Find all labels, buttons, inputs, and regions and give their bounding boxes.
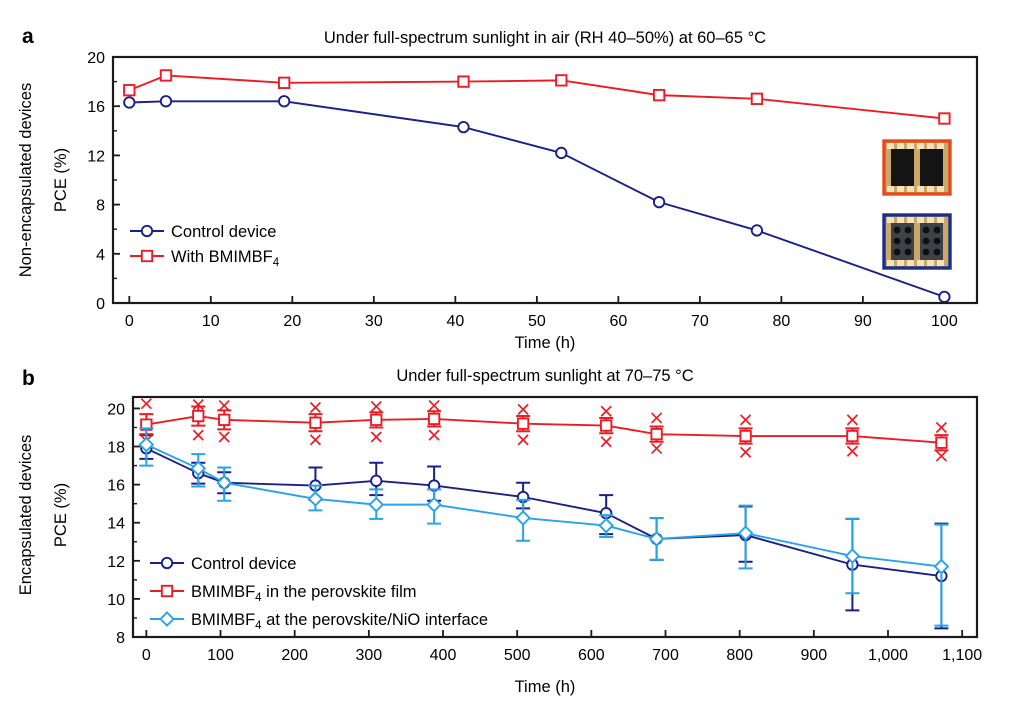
legend-with-bmimbf4[interactable]: With BMIMBF4 [130, 248, 280, 269]
contact-pad [907, 143, 914, 149]
y-tick-label: 8 [96, 198, 105, 215]
contact-pad [897, 186, 904, 192]
y-tick-label: 0 [96, 296, 105, 313]
x-tick-label: 300 [355, 647, 382, 664]
data-point [939, 292, 949, 302]
x-tick-label: 60 [609, 313, 627, 330]
panel-b-letter: b [22, 367, 35, 390]
legend-label-tail: in the perovskite film [262, 583, 417, 601]
contact-pad [887, 186, 894, 192]
series-0 [124, 96, 949, 302]
contact-pad [927, 217, 934, 223]
legend-marker [161, 613, 174, 626]
degradation-spot [905, 238, 912, 245]
x-tick-label: 20 [283, 313, 301, 330]
contact-pad [917, 143, 924, 149]
data-point [458, 76, 468, 86]
contact-pad [907, 217, 914, 223]
legend-marker [162, 586, 172, 596]
x-tick-label: 400 [430, 647, 457, 664]
data-point [556, 75, 566, 85]
legend-bmimbf4-in-film[interactable]: BMIMBF4 in the perovskite film [150, 583, 417, 604]
contact-pad [887, 217, 894, 223]
contact-pad [897, 260, 904, 266]
contact-pad [907, 260, 914, 266]
contact-pad [937, 217, 944, 223]
x-tick-label: 0 [142, 647, 151, 664]
data-point [310, 418, 320, 428]
data-point [650, 532, 663, 545]
x-tick-label: 10 [202, 313, 220, 330]
figure-container: a Under full-spectrum sunlight in air (R… [0, 0, 1024, 703]
legend-bmimbf4-at-interface[interactable]: BMIMBF4 at the perovskite/NiO interface [150, 611, 488, 632]
x-tick-label: 80 [772, 313, 790, 330]
contact-pad [907, 186, 914, 192]
degradation-spot [934, 238, 941, 245]
panel-b-y-ticks: 8101214161820 [107, 401, 140, 647]
legend-label-tail: at the perovskite/NiO interface [262, 611, 489, 629]
contact-pad [937, 186, 944, 192]
extreme-max-cross-icon [652, 413, 662, 423]
data-point [936, 438, 946, 448]
extreme-max-cross-icon [310, 402, 320, 412]
data-point [218, 476, 231, 489]
data-point [847, 431, 857, 441]
data-point [600, 519, 613, 532]
series-1 [124, 70, 949, 123]
data-point [458, 122, 468, 132]
data-point [556, 148, 566, 158]
extreme-max-cross-icon [936, 422, 946, 432]
legend-label: With BMIMBF4 [171, 248, 280, 269]
degradation-spot [894, 238, 901, 245]
y-tick-label: 8 [116, 630, 125, 647]
extreme-max-cross-icon [518, 404, 528, 414]
x-tick-label: 40 [446, 313, 464, 330]
y-tick-label: 16 [87, 99, 105, 116]
data-point [279, 96, 289, 106]
panel-b-xlabel: Time (h) [515, 678, 576, 696]
data-point [517, 511, 530, 524]
x-tick-label: 100 [931, 313, 958, 330]
panel-a-insets [884, 141, 950, 268]
panel-a-title: Under full-spectrum sunlight in air (RH … [324, 29, 766, 47]
data-point [124, 97, 134, 107]
degradation-spot [934, 227, 941, 234]
extreme-max-cross-icon [429, 401, 439, 411]
series-1 [139, 399, 948, 461]
y-tick-label: 12 [107, 554, 125, 571]
legend-marker [162, 558, 172, 568]
contact-pad [927, 186, 934, 192]
y-tick-label: 12 [87, 148, 105, 165]
x-tick-label: 600 [578, 647, 605, 664]
panel-a-xlabel: Time (h) [515, 334, 576, 352]
y-tick-label: 20 [87, 50, 105, 67]
panel-b-ylabel-outer: Encapsulated devices [17, 435, 35, 596]
legend-label: BMIMBF4 in the perovskite film [191, 583, 417, 604]
device-photo-control [884, 215, 950, 268]
data-point [518, 418, 528, 428]
x-tick-label: 70 [691, 313, 709, 330]
degradation-spot [923, 227, 930, 234]
contact-pad [927, 260, 934, 266]
contact-pad [917, 260, 924, 266]
data-point [371, 476, 381, 486]
y-tick-label: 16 [107, 478, 125, 495]
extreme-min-cross-icon [429, 430, 439, 440]
y-tick-label: 20 [107, 401, 125, 418]
contact-pad [927, 143, 934, 149]
legend-subscript: 4 [273, 257, 280, 269]
legend-label: Control device [191, 555, 296, 573]
data-point [752, 225, 762, 235]
panel-b-x-ticks: 01002003004005006007008009001,0001,100 [142, 630, 982, 664]
contact-pad [917, 186, 924, 192]
series-line [129, 101, 944, 297]
panel-b: b Under full-spectrum sunlight at 70–75 … [17, 367, 982, 696]
x-tick-label: 30 [365, 313, 383, 330]
perovskite-stripe [920, 149, 943, 186]
series-line [146, 445, 941, 567]
legend-label: BMIMBF4 at the perovskite/NiO interface [191, 611, 488, 632]
data-point [654, 90, 664, 100]
panel-a-letter: a [22, 25, 34, 48]
y-tick-label: 10 [107, 592, 125, 609]
x-tick-label: 200 [281, 647, 308, 664]
x-tick-label: 1,100 [942, 647, 982, 664]
contact-pad [887, 260, 894, 266]
y-tick-label: 14 [107, 516, 125, 533]
legend-marker [142, 226, 152, 236]
y-tick-label: 4 [96, 247, 105, 264]
extreme-min-cross-icon [193, 430, 203, 440]
y-tick-label: 18 [107, 440, 125, 457]
x-tick-label: 90 [854, 313, 872, 330]
x-tick-label: 100 [207, 647, 234, 664]
contact-pad [887, 143, 894, 149]
degradation-spot [923, 238, 930, 245]
extreme-min-cross-icon [652, 443, 662, 453]
data-point [193, 411, 203, 421]
data-point [219, 415, 229, 425]
data-point [429, 414, 439, 424]
data-point [370, 498, 383, 511]
figure-svg: a Under full-spectrum sunlight in air (R… [0, 0, 1024, 703]
data-point [740, 431, 750, 441]
data-point [309, 492, 322, 505]
extreme-max-cross-icon [601, 406, 611, 416]
legend-control-device[interactable]: Control device [130, 223, 276, 241]
extreme-min-cross-icon [371, 432, 381, 442]
data-point [124, 85, 134, 95]
panel-a-frame [113, 57, 977, 303]
legend-marker [142, 251, 152, 261]
panel-a-ylabel-outer: Non-encapsulated devices [17, 83, 35, 277]
data-point [752, 94, 762, 104]
data-point [279, 78, 289, 88]
panel-a-ylabel-inner: PCE (%) [52, 148, 70, 212]
x-tick-label: 500 [504, 647, 531, 664]
x-tick-label: 0 [125, 313, 134, 330]
panel-b-legend: Control deviceBMIMBF4 in the perovskite … [150, 555, 488, 632]
degradation-spot [894, 249, 901, 256]
legend-control-device[interactable]: Control device [150, 555, 296, 573]
degradation-spot [905, 249, 912, 256]
x-tick-label: 800 [726, 647, 753, 664]
contact-pad [937, 143, 944, 149]
extreme-max-cross-icon [219, 401, 229, 411]
panel-a-y-ticks: 048121620 [87, 50, 120, 313]
extreme-max-cross-icon [741, 415, 751, 425]
series-line [129, 75, 944, 118]
x-tick-label: 900 [800, 647, 827, 664]
data-point [371, 415, 381, 425]
x-tick-label: 1,000 [868, 647, 908, 664]
contact-pad [917, 217, 924, 223]
extreme-min-cross-icon [936, 451, 946, 461]
panel-a-plot-area [124, 70, 949, 302]
extreme-max-cross-icon [371, 402, 381, 412]
x-tick-label: 700 [652, 647, 679, 664]
extreme-min-cross-icon [847, 446, 857, 456]
contact-pad [937, 260, 944, 266]
panel-b-ylabel-inner: PCE (%) [52, 483, 70, 547]
data-point [161, 70, 171, 80]
data-point [654, 197, 664, 207]
extreme-max-cross-icon [847, 415, 857, 425]
extreme-max-cross-icon [141, 399, 151, 409]
perovskite-stripe [891, 149, 914, 186]
x-tick-label: 50 [528, 313, 546, 330]
degradation-spot [934, 249, 941, 256]
contact-pad [897, 217, 904, 223]
series-line [146, 416, 941, 443]
extreme-min-cross-icon [310, 435, 320, 445]
data-point [651, 429, 661, 439]
extreme-min-cross-icon [741, 447, 751, 457]
data-point [935, 560, 948, 573]
panel-a: a Under full-spectrum sunlight in air (R… [17, 25, 977, 352]
degradation-spot [923, 249, 930, 256]
device-photo-with-bmimbf4 [884, 141, 950, 194]
contact-pad [897, 143, 904, 149]
panel-a-legend: Control deviceWith BMIMBF4 [130, 223, 280, 269]
extreme-min-cross-icon [601, 437, 611, 447]
data-point [161, 96, 171, 106]
panel-a-x-ticks: 0102030405060708090100 [125, 296, 958, 330]
panel-b-title: Under full-spectrum sunlight at 70–75 °C [396, 367, 693, 385]
data-point [601, 420, 611, 430]
extreme-min-cross-icon [518, 435, 528, 445]
data-point [939, 113, 949, 123]
degradation-spot [905, 227, 912, 234]
legend-label: Control device [171, 223, 276, 241]
degradation-spot [894, 227, 901, 234]
extreme-min-cross-icon [219, 432, 229, 442]
